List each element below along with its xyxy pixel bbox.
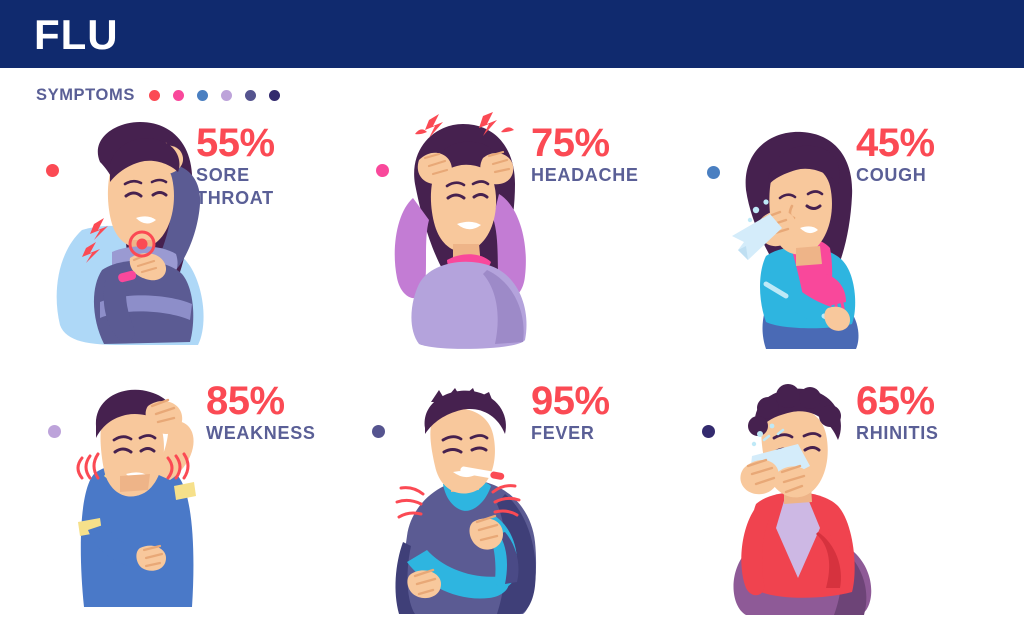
symptom-percent: 85% bbox=[206, 380, 316, 422]
symptom-label: WEAKNESS bbox=[206, 422, 316, 445]
page-header: FLU bbox=[0, 0, 1024, 68]
illustration-woman-coughing-tissue bbox=[704, 124, 879, 349]
legend-dot-light-purple bbox=[221, 90, 232, 101]
illustration-woman-holding-head bbox=[367, 114, 547, 349]
legend-dot-dark-navy bbox=[269, 90, 280, 101]
symptom-percent: 75% bbox=[531, 122, 639, 164]
legend-label: SYMPTOMS bbox=[36, 86, 135, 105]
symptom-text-headache: 75% HEADACHE bbox=[531, 122, 639, 187]
illustration-man-sneezing-tissue bbox=[694, 382, 884, 615]
illustration-man-hand-on-forehead bbox=[34, 382, 214, 607]
symptom-card-rhinitis: 65% RHINITIS bbox=[680, 380, 1010, 636]
legend-dot-pink bbox=[173, 90, 184, 101]
symptom-text-weakness: 85% WEAKNESS bbox=[206, 380, 316, 445]
legend-dot-list bbox=[149, 90, 280, 101]
symptom-card-cough: 45% COUGH bbox=[680, 112, 1010, 368]
illustration-man-thermometer-blanket bbox=[365, 386, 550, 614]
symptom-card-headache: 75% HEADACHE bbox=[345, 112, 675, 368]
symptom-card-weakness: 85% WEAKNESS bbox=[10, 380, 340, 636]
symptom-card-fever: 95% FEVER bbox=[345, 380, 675, 636]
symptoms-grid: 55% SORE THROAT bbox=[0, 112, 1024, 623]
symptom-label: HEADACHE bbox=[531, 164, 639, 187]
page-title: FLU bbox=[34, 12, 119, 58]
legend-dot-blue bbox=[197, 90, 208, 101]
legend: SYMPTOMS bbox=[36, 86, 280, 105]
illustration-woman-holding-throat bbox=[30, 120, 220, 345]
legend-dot-coral bbox=[149, 90, 160, 101]
symptom-card-sore-throat: 55% SORE THROAT bbox=[10, 112, 340, 368]
legend-dot-mid-purple bbox=[245, 90, 256, 101]
